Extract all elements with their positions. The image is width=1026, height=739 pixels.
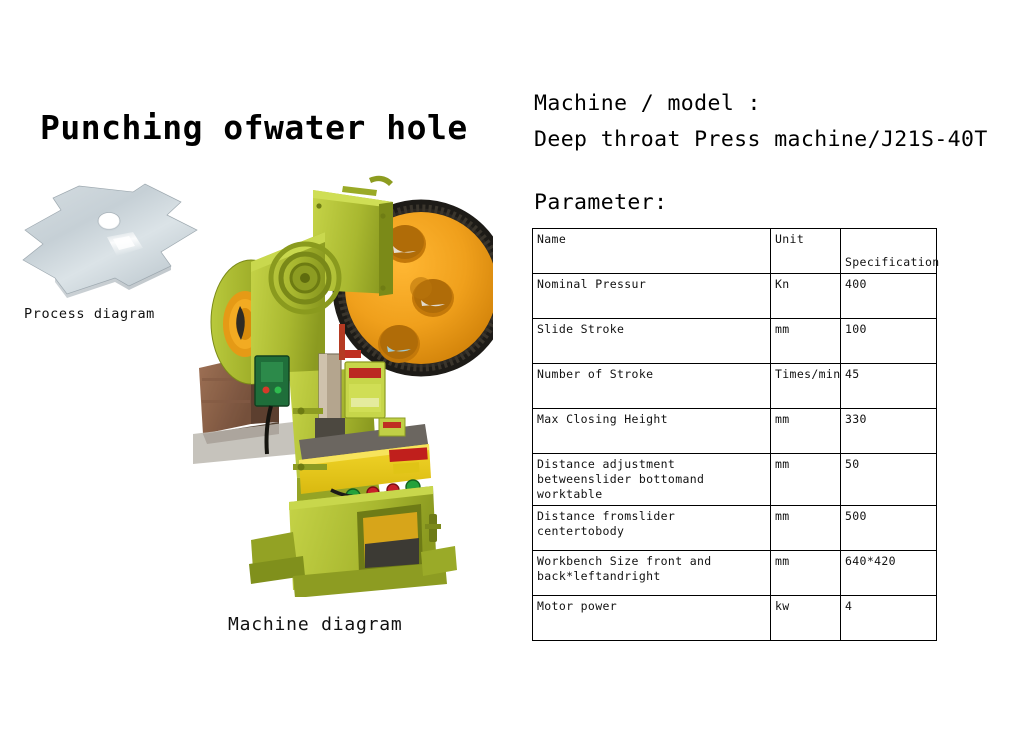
cell-specification: 400 <box>841 274 937 319</box>
table-row: Distance fromslider centertobodymm500 <box>533 506 937 551</box>
cell-name: Distance adjustment betweenslider bottom… <box>533 454 771 506</box>
cell-unit: mm <box>771 551 841 596</box>
cell-unit: mm <box>771 454 841 506</box>
cell-unit: mm <box>771 506 841 551</box>
cell-name: Nominal Pressur <box>533 274 771 319</box>
column-header-name: Name <box>533 229 771 274</box>
cell-unit: mm <box>771 409 841 454</box>
cell-name: Workbench Size front and back*leftandrig… <box>533 551 771 596</box>
column-header-unit: Unit <box>771 229 841 274</box>
metal-sheet-part-icon <box>18 178 204 298</box>
parameter-heading: Parameter: <box>534 190 667 215</box>
cell-specification: 100 <box>841 319 937 364</box>
cell-unit: kw <box>771 596 841 641</box>
cell-name: Max Closing Height <box>533 409 771 454</box>
cell-specification: 330 <box>841 409 937 454</box>
cell-unit: Kn <box>771 274 841 319</box>
cell-specification: 640*420 <box>841 551 937 596</box>
table-row: Distance adjustment betweenslider bottom… <box>533 454 937 506</box>
table-row: Workbench Size front and back*leftandrig… <box>533 551 937 596</box>
table-row: Nominal PressurKn400 <box>533 274 937 319</box>
cell-specification: 50 <box>841 454 937 506</box>
cell-name: Distance fromslider centertobody <box>533 506 771 551</box>
cell-unit: mm <box>771 319 841 364</box>
table-row: Motor powerkw4 <box>533 596 937 641</box>
cell-specification: 45 <box>841 364 937 409</box>
machine-diagram-image <box>193 172 493 597</box>
machine-model-block: Machine / model : Deep throat Press mach… <box>534 86 988 158</box>
cell-unit: Times/min <box>771 364 841 409</box>
machine-base <box>249 486 457 597</box>
specification-table: Name Unit Specification Nominal PressurK… <box>532 228 937 641</box>
table-header-row: Name Unit Specification <box>533 229 937 274</box>
cell-name: Number of Stroke <box>533 364 771 409</box>
process-diagram-image <box>18 178 204 298</box>
machine-model-label: Machine / model : <box>534 86 988 122</box>
column-header-specification: Specification <box>841 229 937 274</box>
cell-specification: 500 <box>841 506 937 551</box>
machine-diagram-caption: Machine diagram <box>228 614 403 635</box>
cell-name: Motor power <box>533 596 771 641</box>
specification-table-wrapper: Name Unit Specification Nominal PressurK… <box>532 228 936 641</box>
cell-name: Slide Stroke <box>533 319 771 364</box>
process-diagram-caption: Process diagram <box>24 306 155 322</box>
machine-model-value: Deep throat Press machine/J21S-40T <box>534 122 988 158</box>
table-row: Number of StrokeTimes/min45 <box>533 364 937 409</box>
cell-specification: 4 <box>841 596 937 641</box>
table-row: Slide Strokemm100 <box>533 319 937 364</box>
power-press-machine-icon <box>193 172 493 597</box>
page-title: Punching ofwater hole <box>40 108 468 147</box>
table-row: Max Closing Heightmm330 <box>533 409 937 454</box>
